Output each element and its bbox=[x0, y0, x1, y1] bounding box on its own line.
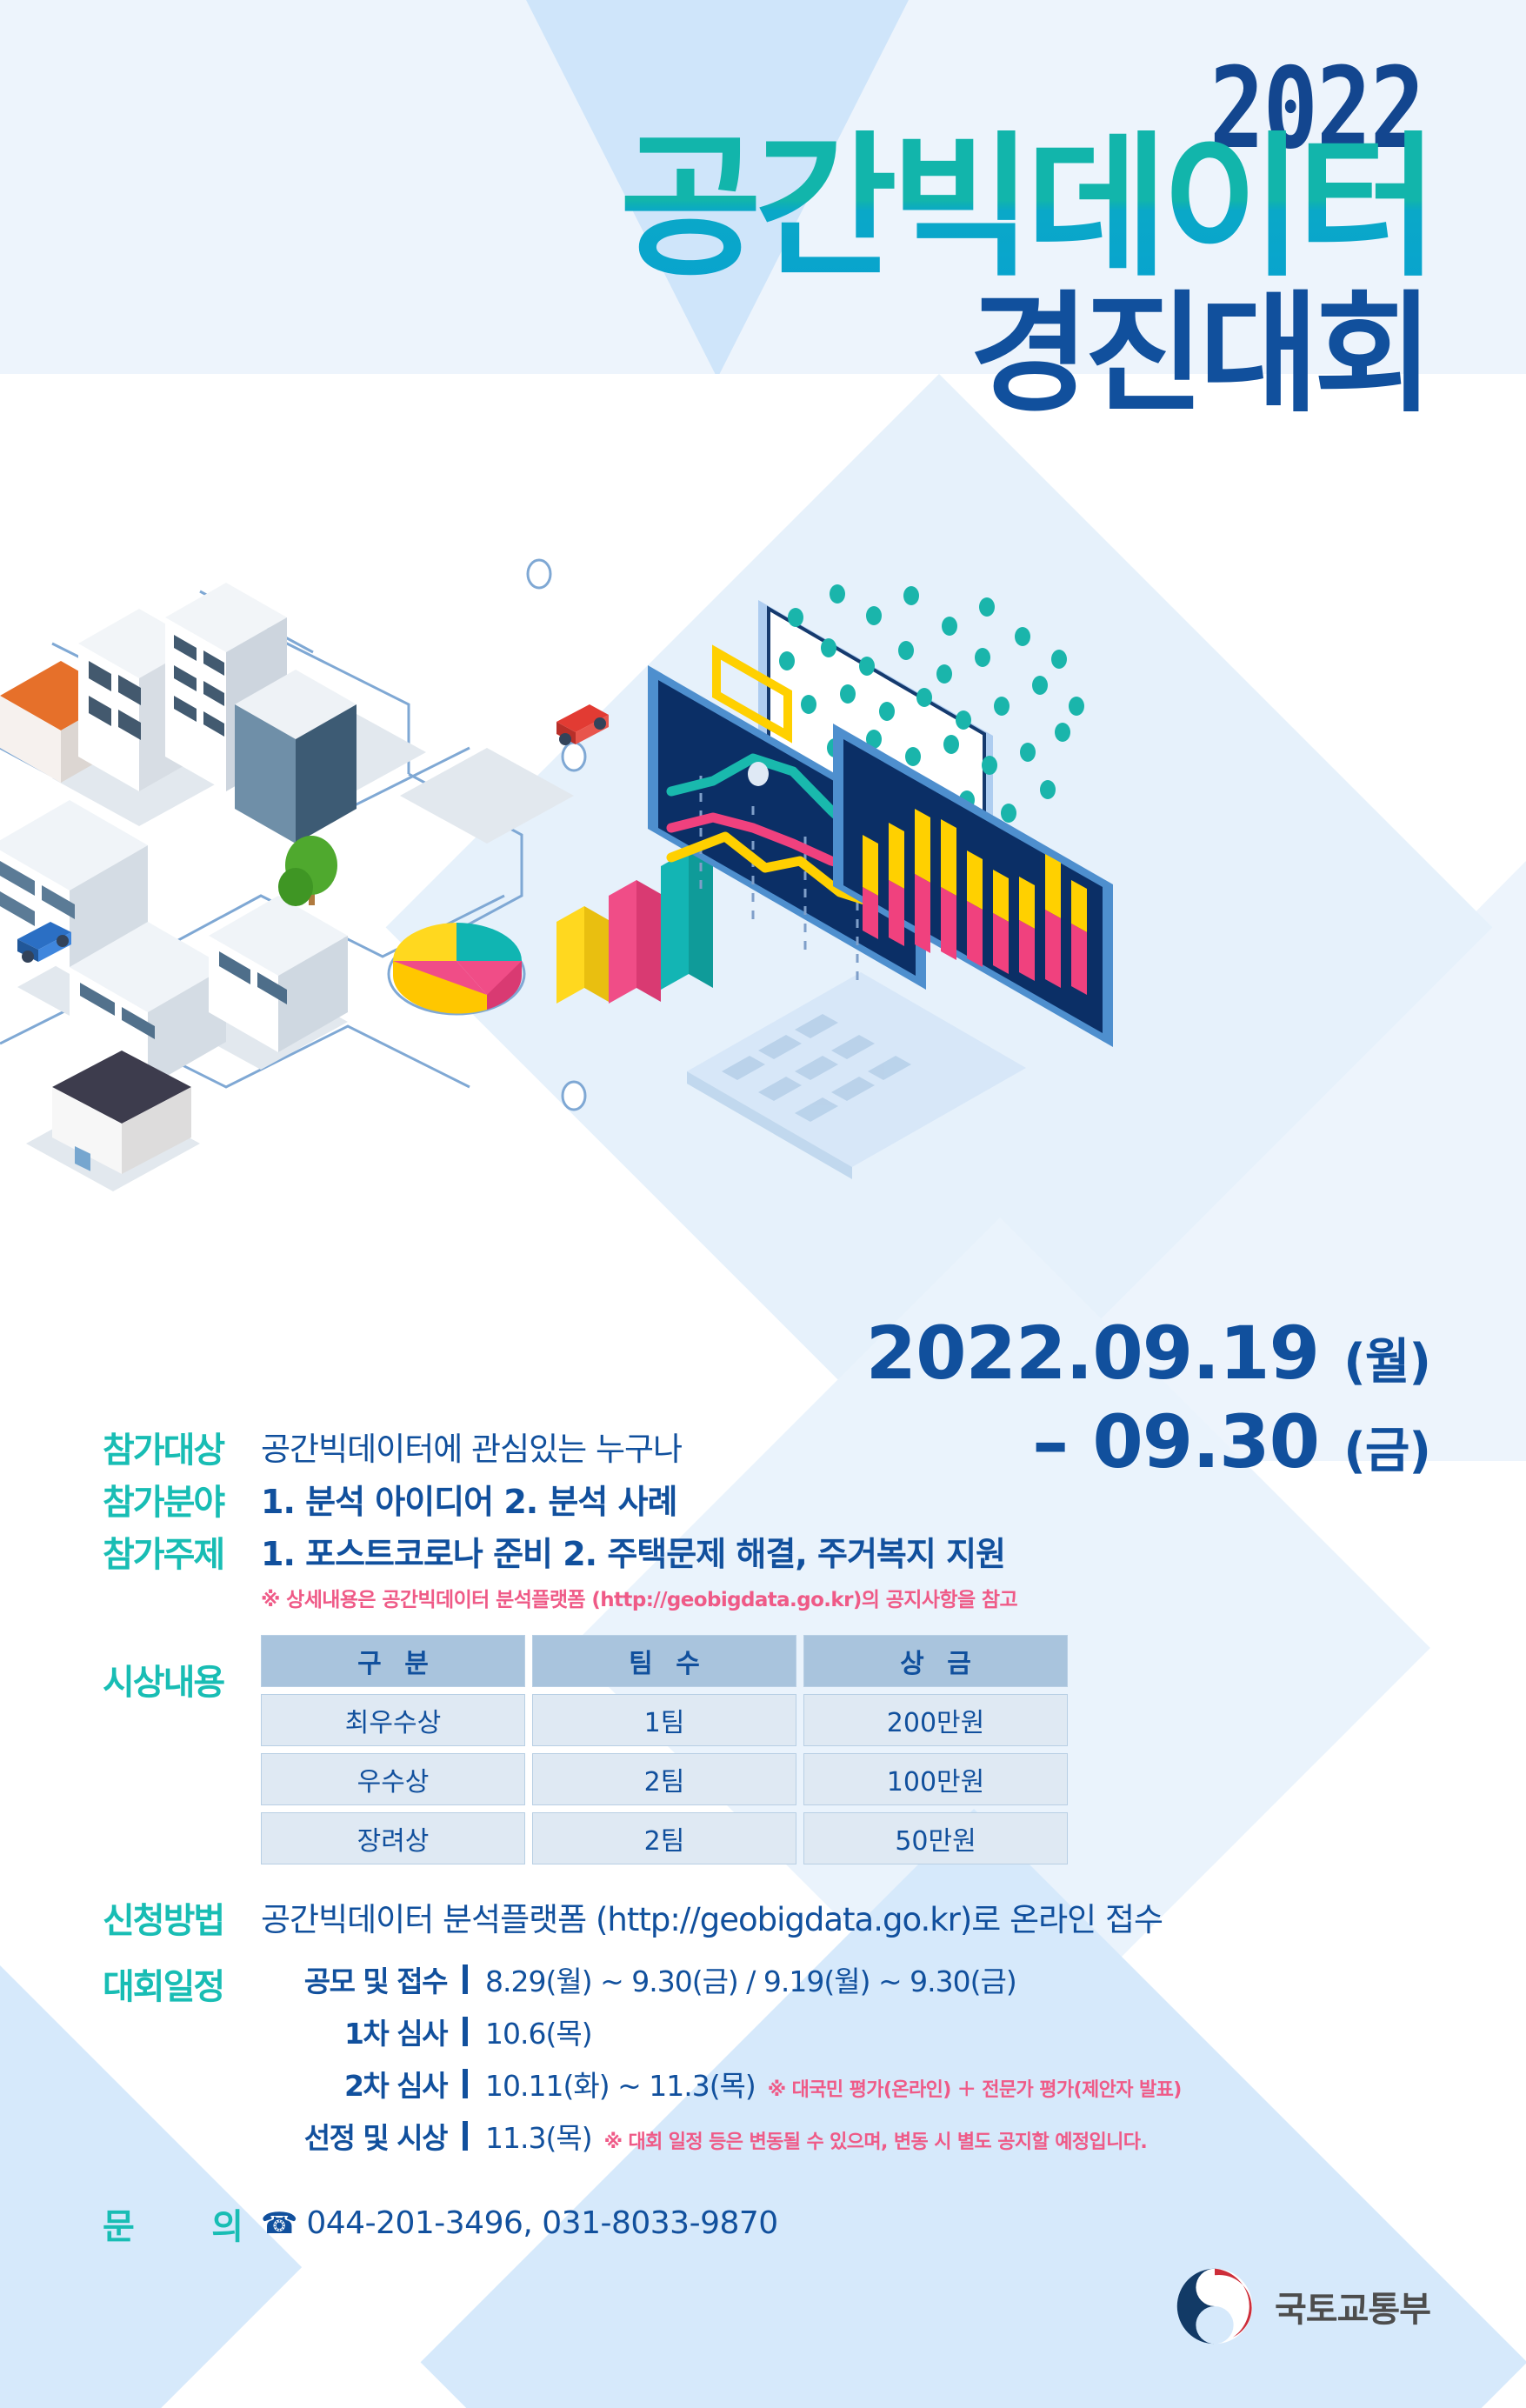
event-date-line-1: 2022.09.19 (월) bbox=[866, 1313, 1430, 1393]
detail-value-category: 1. 분석 아이디어 2. 분석 사례 bbox=[261, 1483, 677, 1523]
bar-group-icon bbox=[556, 850, 713, 1004]
schedule-divider-icon bbox=[463, 2069, 468, 2098]
schedule-date-round1: 10.6(목) bbox=[485, 2011, 592, 2052]
table-row: 장려상 2팀 50만원 bbox=[261, 1812, 1068, 1864]
schedule-name-award: 선정 및 시상 bbox=[261, 2115, 463, 2157]
detail-row-apply: 신청방법 공간빅데이터 분석플랫폼 (http://geobigdata.go.… bbox=[103, 1901, 1459, 1941]
awards-table: 구 분 팀 수 상 금 최우수상 1팀 200만원 우수상 2팀 100만원 bbox=[254, 1628, 1075, 1871]
contact-label-left: 문 bbox=[103, 2198, 133, 2249]
detail-label-category: 참가분야 bbox=[103, 1483, 261, 1523]
taegeuk-mark-icon bbox=[1174, 2265, 1256, 2347]
table-cell-teams: 1팀 bbox=[532, 1694, 796, 1746]
schedule-date-submission: 8.29(월) ~ 9.30(금) / 9.19(월) ~ 9.30(금) bbox=[485, 1958, 1016, 2000]
table-cell-category: 우수상 bbox=[261, 1753, 525, 1805]
page-title: 공간빅데이터 bbox=[619, 129, 1432, 287]
detail-value-topic: 1. 포스트코로나 준비 2. 주택문제 해결, 주거복지 지원 bbox=[261, 1535, 1017, 1575]
table-header-row: 구 분 팀 수 상 금 bbox=[261, 1635, 1068, 1687]
detail-value-eligibility: 공간빅데이터에 관심있는 누구나 bbox=[261, 1431, 682, 1469]
detail-label-topic: 참가주제 bbox=[103, 1535, 261, 1575]
schedule-date-award: 11.3(목) bbox=[485, 2115, 592, 2157]
table-row: 우수상 2팀 100만원 bbox=[261, 1753, 1068, 1805]
schedule-section: 대회일정 공모 및 접수 8.29(월) ~ 9.30(금) / 9.19(월)… bbox=[103, 1958, 1459, 2167]
page-subtitle: 경진대회 bbox=[970, 290, 1429, 420]
table-header-category: 구 분 bbox=[261, 1635, 525, 1687]
schedule-date-round2: 10.11(화) ~ 11.3(목) bbox=[485, 2063, 756, 2104]
tree-icon bbox=[278, 836, 337, 906]
schedule-note-award: ※ 대회 일정 등은 변동될 수 있으며, 변동 시 별도 공지할 예정입니다. bbox=[604, 2126, 1148, 2154]
table-cell-prize: 200만원 bbox=[803, 1694, 1068, 1746]
detail-row-category: 참가분야 1. 분석 아이디어 2. 분석 사례 bbox=[103, 1483, 1459, 1523]
event-date-start: 2022.09.19 bbox=[866, 1311, 1319, 1396]
table-header-prize: 상 금 bbox=[803, 1635, 1068, 1687]
schedule-list: 공모 및 접수 8.29(월) ~ 9.30(금) / 9.19(월) ~ 9.… bbox=[261, 1958, 1459, 2167]
schedule-name-round2: 2차 심사 bbox=[261, 2063, 463, 2104]
event-date-start-dow: (월) bbox=[1343, 1334, 1430, 1391]
building-glass-tower-icon bbox=[235, 670, 357, 844]
contact-section: 문 의 ☎ 044-201-3496, 031-8033-9870 bbox=[103, 2198, 1459, 2249]
detail-row-topic: 참가주제 1. 포스트코로나 준비 2. 주택문제 해결, 주거복지 지원 ※ … bbox=[103, 1535, 1459, 1612]
car-red-icon bbox=[556, 704, 609, 745]
schedule-label: 대회일정 bbox=[103, 1958, 261, 2009]
detail-value-apply: 공간빅데이터 분석플랫폼 (http://geobigdata.go.kr)로 … bbox=[261, 1901, 1163, 1939]
detail-label-apply: 신청방법 bbox=[103, 1901, 261, 1941]
isometric-city-illustration bbox=[0, 487, 1130, 1252]
schedule-row-submission: 공모 및 접수 8.29(월) ~ 9.30(금) / 9.19(월) ~ 9.… bbox=[261, 1958, 1459, 2000]
details-section: 참가대상 공간빅데이터에 관심있는 누구나 참가분야 1. 분석 아이디어 2.… bbox=[103, 1431, 1459, 2249]
table-cell-prize: 50만원 bbox=[803, 1812, 1068, 1864]
contact-phone-numbers: 044-201-3496, 031-8033-9870 bbox=[306, 2205, 777, 2241]
table-header-teams: 팀 수 bbox=[532, 1635, 796, 1687]
detail-note-topic: ※ 상세내용은 공간빅데이터 분석플랫폼 (http://geobigdata.… bbox=[261, 1583, 1017, 1612]
detail-row-eligibility: 참가대상 공간빅데이터에 관심있는 누구나 bbox=[103, 1431, 1459, 1471]
schedule-divider-icon bbox=[463, 2017, 468, 2046]
pie-chart-icon bbox=[389, 923, 524, 1014]
awards-section: 시상내용 구 분 팀 수 상 금 최우수상 1팀 200만원 bbox=[103, 1635, 1459, 1871]
schedule-row-award: 선정 및 시상 11.3(목) ※ 대회 일정 등은 변동될 수 있으며, 변동… bbox=[261, 2115, 1459, 2157]
schedule-name-submission: 공모 및 접수 bbox=[261, 1958, 463, 2000]
schedule-row-round1: 1차 심사 10.6(목) bbox=[261, 2011, 1459, 2052]
table-cell-category: 장려상 bbox=[261, 1812, 525, 1864]
schedule-divider-icon bbox=[463, 1964, 468, 1994]
page-title-text: 공간빅데이터 bbox=[619, 117, 1432, 297]
phone-icon: ☎ bbox=[261, 2209, 297, 2238]
detail-label-eligibility: 참가대상 bbox=[103, 1431, 261, 1471]
schedule-name-round1: 1차 심사 bbox=[261, 2011, 463, 2052]
schedule-note-round2: ※ 대국민 평가(온라인) ＋ 전문가 평가(제안자 발표) bbox=[768, 2074, 1182, 2102]
awards-label: 시상내용 bbox=[103, 1635, 261, 1704]
table-cell-category: 최우수상 bbox=[261, 1694, 525, 1746]
schedule-row-round2: 2차 심사 10.11(화) ~ 11.3(목) ※ 대국민 평가(온라인) ＋… bbox=[261, 2063, 1459, 2104]
table-cell-teams: 2팀 bbox=[532, 1753, 796, 1805]
table-row: 최우수상 1팀 200만원 bbox=[261, 1694, 1068, 1746]
table-cell-teams: 2팀 bbox=[532, 1812, 796, 1864]
ministry-name: 국토교통부 bbox=[1275, 2281, 1430, 2331]
laptop-icon bbox=[687, 972, 1026, 1179]
footer-logo: 국토교통부 bbox=[1174, 2265, 1430, 2347]
schedule-divider-icon bbox=[463, 2121, 468, 2151]
contact-label-right: 의 bbox=[211, 2198, 242, 2249]
table-cell-prize: 100만원 bbox=[803, 1753, 1068, 1805]
poster-root: 2022 공간빅데이터 경진대회 bbox=[0, 0, 1526, 2408]
contact-label: 문 의 bbox=[103, 2198, 261, 2249]
detail-value-topic-wrap: 1. 포스트코로나 준비 2. 주택문제 해결, 주거복지 지원 ※ 상세내용은… bbox=[261, 1535, 1017, 1612]
